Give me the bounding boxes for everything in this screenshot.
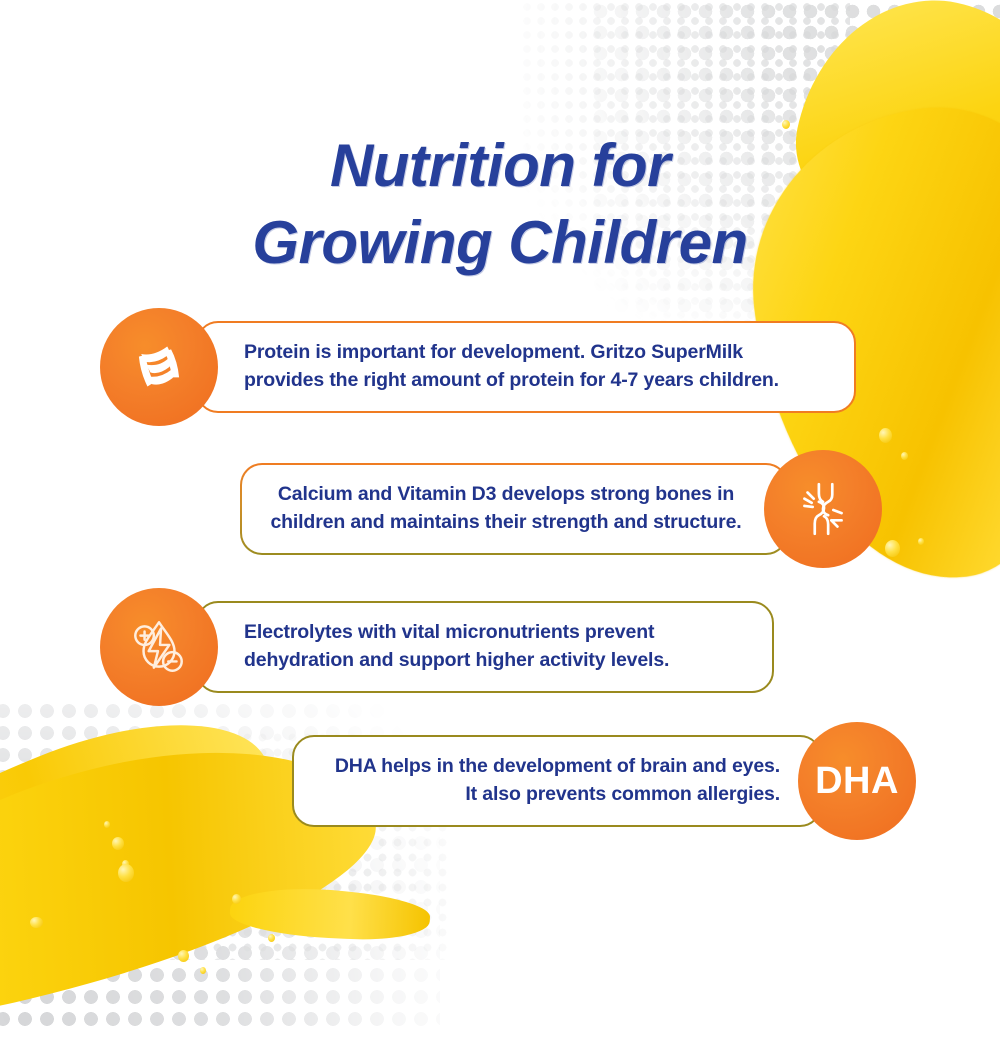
benefit-card-dha: DHA helps in the development of brain an… [292, 735, 822, 826]
electrolytes-badge [100, 588, 218, 706]
benefit-row-calcium: Calcium and Vitamin D3 develops strong b… [240, 450, 882, 568]
benefit-row-electrolytes: Electrolytes with vital micronutrients p… [100, 588, 774, 706]
page-title-line-2: Growing Children [0, 205, 1000, 282]
page-title: Nutrition for Growing Children [0, 128, 1000, 282]
benefit-card-protein: Protein is important for development. Gr… [196, 321, 856, 412]
benefit-row-dha: DHA helps in the development of brain an… [292, 722, 916, 840]
bone-joint-icon [790, 476, 856, 542]
benefit-card-electrolytes: Electrolytes with vital micronutrients p… [196, 601, 774, 692]
benefit-row-protein: Protein is important for development. Gr… [100, 308, 856, 426]
benefit-card-calcium: Calcium and Vitamin D3 develops strong b… [240, 463, 788, 554]
protein-helix-icon [128, 336, 190, 398]
benefit-text-calcium: Calcium and Vitamin D3 develops strong b… [270, 481, 742, 536]
page-title-line-1: Nutrition for [0, 128, 1000, 205]
electrolyte-droplet-icon [126, 614, 192, 680]
benefit-text-electrolytes: Electrolytes with vital micronutrients p… [244, 619, 744, 674]
calcium-badge [764, 450, 882, 568]
protein-badge [100, 308, 218, 426]
dha-badge: DHA [798, 722, 916, 840]
benefit-text-protein: Protein is important for development. Gr… [244, 339, 826, 394]
dha-text-badge: DHA [815, 760, 899, 803]
benefit-text-dha: DHA helps in the development of brain an… [322, 753, 780, 808]
